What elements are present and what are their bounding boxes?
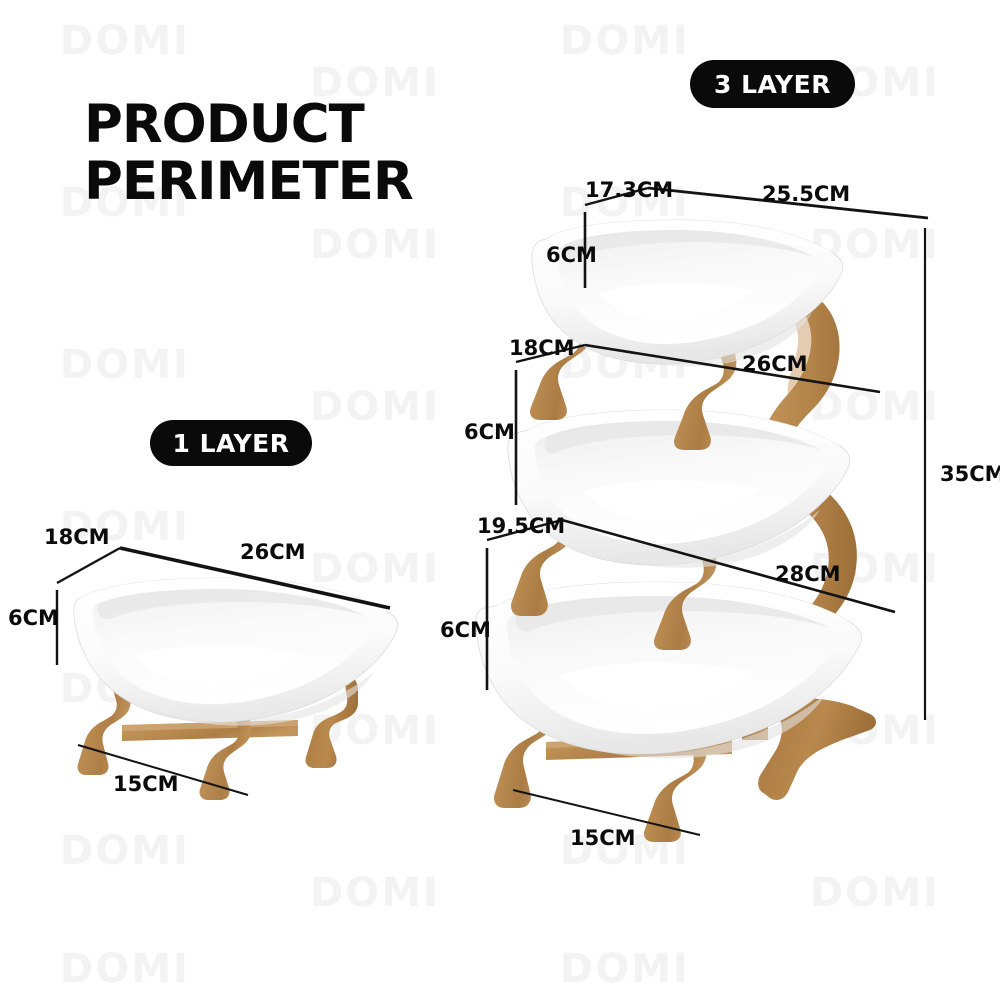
watermark-21: DOMI — [310, 870, 440, 916]
dim-label-top-width: 25.5CM — [762, 182, 850, 206]
watermark-0: DOMI — [60, 18, 190, 64]
watermark-25: DOMI — [560, 946, 690, 992]
product-image-three-layer — [470, 180, 940, 840]
badge-one-layer: 1 LAYER — [150, 420, 312, 466]
dim-label-three-layer-base: 15CM — [570, 826, 636, 850]
dim-label-top-height: 6CM — [546, 243, 597, 267]
product-image-one-layer — [40, 520, 420, 810]
dim-label-bottom-width: 28CM — [775, 562, 841, 586]
dim-label-bottom-height: 6CM — [440, 618, 491, 642]
watermark-2: DOMI — [560, 18, 690, 64]
watermark-20: DOMI — [60, 828, 190, 874]
dim-label-overall-height: 35CM — [940, 462, 1000, 486]
watermark-5: DOMI — [310, 222, 440, 268]
watermark-9: DOMI — [310, 384, 440, 430]
product-dimension-infographic: DOMIDOMIDOMIDOMIDOMIDOMIDOMIDOMIDOMIDOMI… — [0, 0, 1000, 1000]
dim-label-one-layer-depth: 18CM — [44, 525, 110, 549]
dim-label-mid-depth: 18CM — [509, 336, 575, 360]
page-title: PRODUCT PERIMETER — [84, 96, 413, 210]
dim-label-one-layer-width: 26CM — [240, 540, 306, 564]
dim-label-mid-height: 6CM — [464, 420, 515, 444]
dim-label-mid-width: 26CM — [742, 352, 808, 376]
watermark-23: DOMI — [810, 870, 940, 916]
ceramic-bowl-top — [532, 220, 843, 366]
dim-label-one-layer-base: 15CM — [113, 772, 179, 796]
dim-label-bottom-depth: 19.5CM — [477, 514, 565, 538]
watermark-8: DOMI — [60, 342, 190, 388]
badge-three-layer: 3 LAYER — [690, 60, 855, 108]
dim-label-one-layer-height: 6CM — [8, 606, 59, 630]
dim-label-top-depth: 17.3CM — [585, 178, 673, 202]
watermark-24: DOMI — [60, 946, 190, 992]
